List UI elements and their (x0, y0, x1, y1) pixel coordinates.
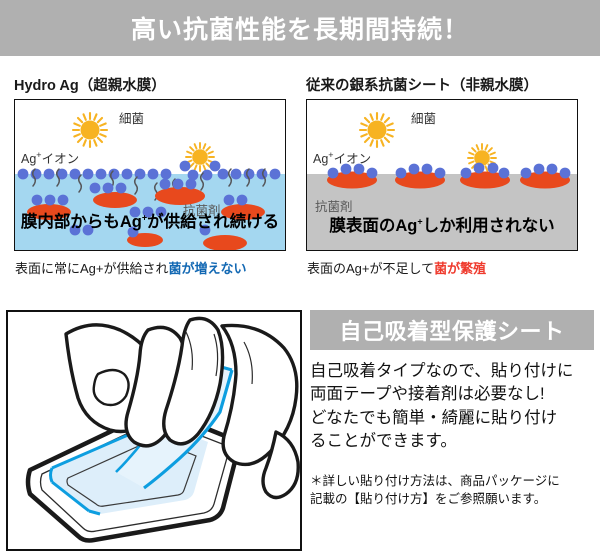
application-section: 自己吸着型保護シート 自己吸着タイプなので、貼り付けに 両面テープや接着剤は必要… (0, 300, 600, 560)
label-ag-ion-hydro: Ag+イオン (21, 148, 79, 167)
diagram-hydro-ag: 細菌 Ag+イオン 抗菌剤 膜内部からもAg+が供給され続ける (14, 99, 286, 251)
note-line: 記載の【貼り付け方】をご参照願います。 (310, 490, 594, 508)
panel-title-hydro-ag: Hydro Ag（超親水膜） (14, 74, 300, 95)
application-text-column: 自己吸着型保護シート 自己吸着タイプなので、貼り付けに 両面テープや接着剤は必要… (310, 310, 594, 508)
description-line: ることができます。 (310, 430, 594, 453)
description-line: どなたでも簡単・綺麗に貼り付け (310, 407, 594, 430)
label-bacteria-conventional: 細菌 (411, 108, 436, 127)
note-line: ＊詳しい貼り付け方法は、商品パッケージに (310, 472, 594, 490)
statement-conventional-silver: 膜表面のAg+しか利用されない (307, 212, 577, 236)
caption-hydro-ag: 表面に常にAg+が供給され菌が増えない (15, 258, 300, 277)
self-adhesive-banner: 自己吸着型保護シート (310, 310, 594, 350)
description-line: 両面テープや接着剤は必要なし! (310, 383, 594, 406)
page-title: 高い抗菌性能を長期間持続！ (131, 10, 469, 46)
description-line: 自己吸着タイプなので、貼り付けに (310, 360, 594, 383)
label-ag-ion-conventional: Ag+イオン (313, 148, 371, 167)
panel-title-conventional-silver: 従来の銀系抗菌シート（非親水膜） (306, 74, 592, 95)
diagram-conventional-silver: 細菌 Ag+イオン 抗菌剤 膜表面のAg+しか利用されない (306, 99, 578, 251)
statement-hydro-ag: 膜内部からもAg+が供給され続ける (15, 208, 285, 232)
label-bacteria-hydro: 細菌 (119, 108, 144, 127)
panel-hydro-ag: Hydro Ag（超親水膜） (10, 56, 300, 277)
application-illustration (6, 310, 302, 551)
comparison-section: Hydro Ag（超親水膜） (0, 56, 600, 292)
hand-applying-sheet-illustration (8, 312, 300, 549)
self-adhesive-banner-title: 自己吸着型保護シート (339, 314, 564, 346)
caption-conventional-silver: 表面のAg+が不足して菌が繁殖 (307, 258, 592, 277)
panel-conventional-silver: 従来の銀系抗菌シート（非親水膜） (302, 56, 592, 277)
application-note: ＊詳しい貼り付け方法は、商品パッケージに 記載の【貼り付け方】をご参照願います。 (310, 472, 594, 508)
header-banner: 高い抗菌性能を長期間持続！ (0, 0, 600, 56)
application-description: 自己吸着タイプなので、貼り付けに 両面テープや接着剤は必要なし! どなたでも簡単… (310, 360, 594, 454)
